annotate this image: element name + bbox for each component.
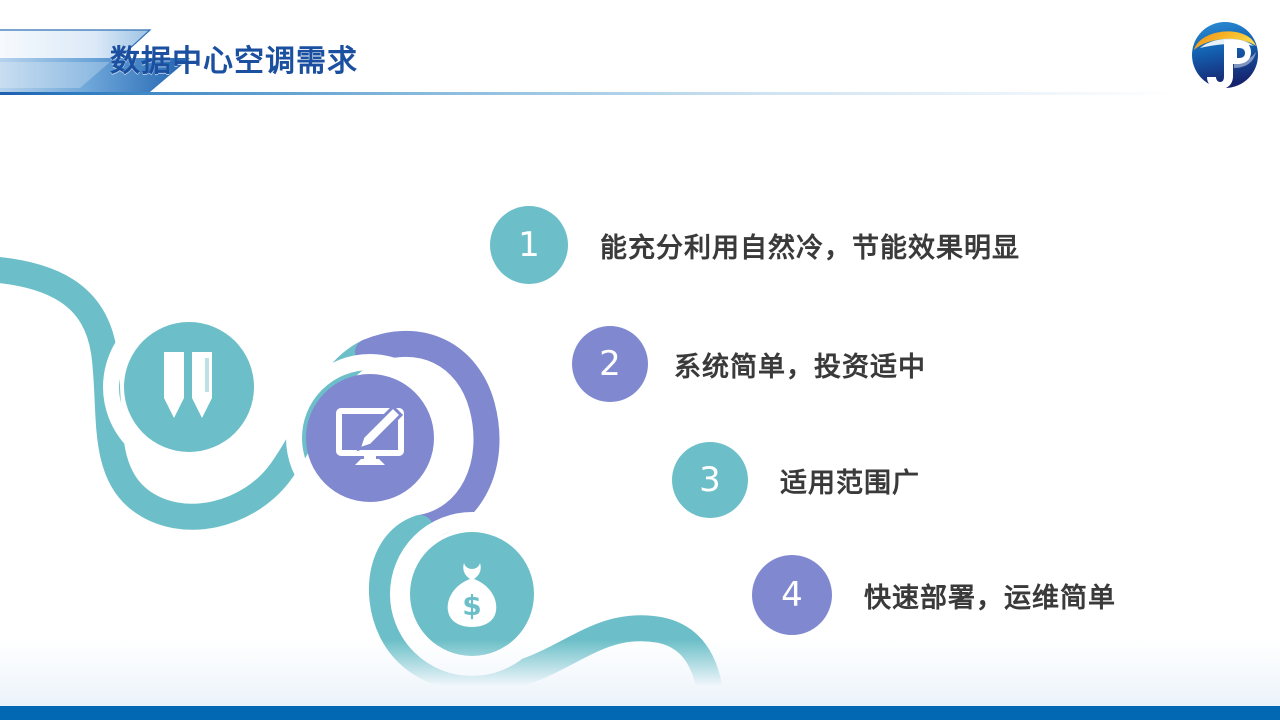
bullet-number: 1 [490,206,568,284]
bullet-number: 4 [752,555,832,635]
list-item: 2 系统简单，投资适中 [572,326,926,402]
list-item: 3 适用范围广 [672,442,920,518]
monitor-pen-icon [306,374,434,502]
header-underline [0,92,1280,95]
bullet-text: 适用范围广 [780,461,920,500]
list-item: 4 快速部署，运维简单 [752,555,1116,635]
pens-icon [124,322,254,452]
page-title: 数据中心空调需求 [110,36,358,80]
bullet-text: 系统简单，投资适中 [674,345,926,384]
money-bag-icon: $ [410,532,534,656]
bullet-text: 能充分利用自然冷，节能效果明显 [600,226,1020,265]
slide-canvas: $ 数据中心空调需求 [0,0,1280,720]
bullet-text: 快速部署，运维简单 [864,576,1116,615]
bullet-number: 3 [672,442,748,518]
svg-text:$: $ [462,589,481,622]
bullet-number: 2 [572,326,648,402]
slide-header: 数据中心空调需求 [0,0,1280,100]
company-logo [1190,20,1260,90]
list-item: 1 能充分利用自然冷，节能效果明显 [490,206,1020,284]
footer-bar [0,706,1280,720]
